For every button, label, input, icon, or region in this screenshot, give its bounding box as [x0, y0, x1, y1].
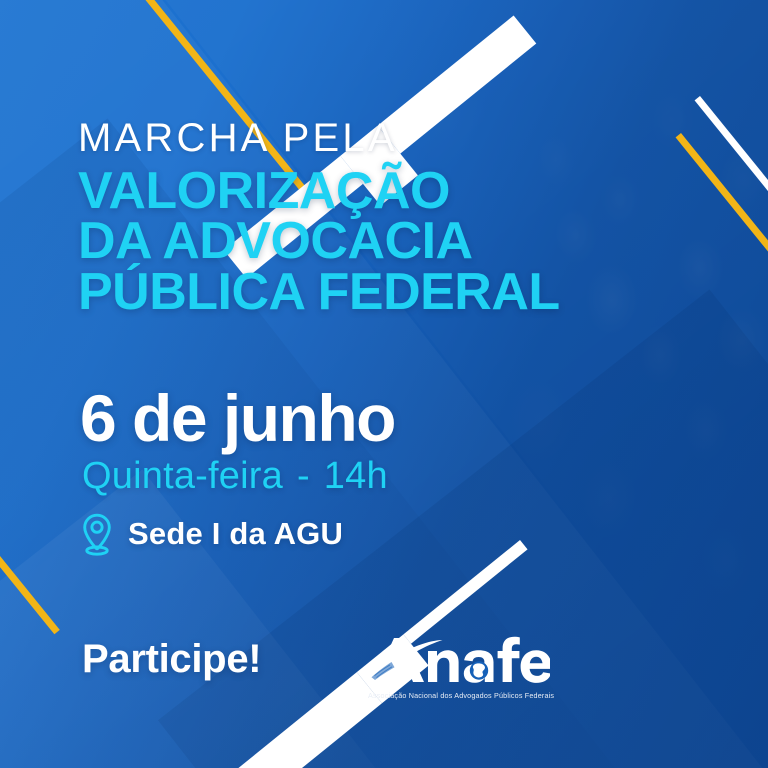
- location-pin-icon: [80, 512, 114, 556]
- datetime-separator: -: [283, 455, 324, 497]
- event-weekday-time: Quinta-feira-14h: [82, 457, 395, 497]
- title-line-3: PÚBLICA FEDERAL: [78, 267, 560, 317]
- poster-kicker: MARCHA PELA: [78, 118, 560, 158]
- event-weekday: Quinta-feira: [82, 455, 283, 497]
- event-location: Sede I da AGU: [128, 516, 343, 552]
- anafe-logo: Associação Nacional dos Advogados Públic…: [368, 632, 550, 700]
- headline-block: MARCHA PELA VALORIZAÇÃO DA ADVOCACIA PÚB…: [78, 118, 560, 317]
- event-datetime-block: 6 de junho Quinta-feira-14h: [80, 385, 395, 497]
- page-title: VALORIZAÇÃO DA ADVOCACIA PÚBLICA FEDERAL: [78, 166, 560, 317]
- anafe-tagline: Associação Nacional dos Advogados Públic…: [368, 691, 550, 700]
- anafe-wordmark-icon: [368, 632, 550, 690]
- call-to-action-text: Participe!: [82, 637, 261, 682]
- title-line-1: VALORIZAÇÃO: [78, 166, 560, 216]
- event-time: 14h: [324, 455, 388, 497]
- title-line-2: DA ADVOCACIA: [78, 216, 560, 266]
- poster-content: MARCHA PELA VALORIZAÇÃO DA ADVOCACIA PÚB…: [0, 0, 768, 768]
- event-date: 6 de junho: [80, 385, 395, 451]
- brazil-globe-icon: [470, 661, 488, 679]
- event-location-block: Sede I da AGU: [80, 512, 343, 556]
- event-poster: MARCHA PELA VALORIZAÇÃO DA ADVOCACIA PÚB…: [0, 0, 768, 768]
